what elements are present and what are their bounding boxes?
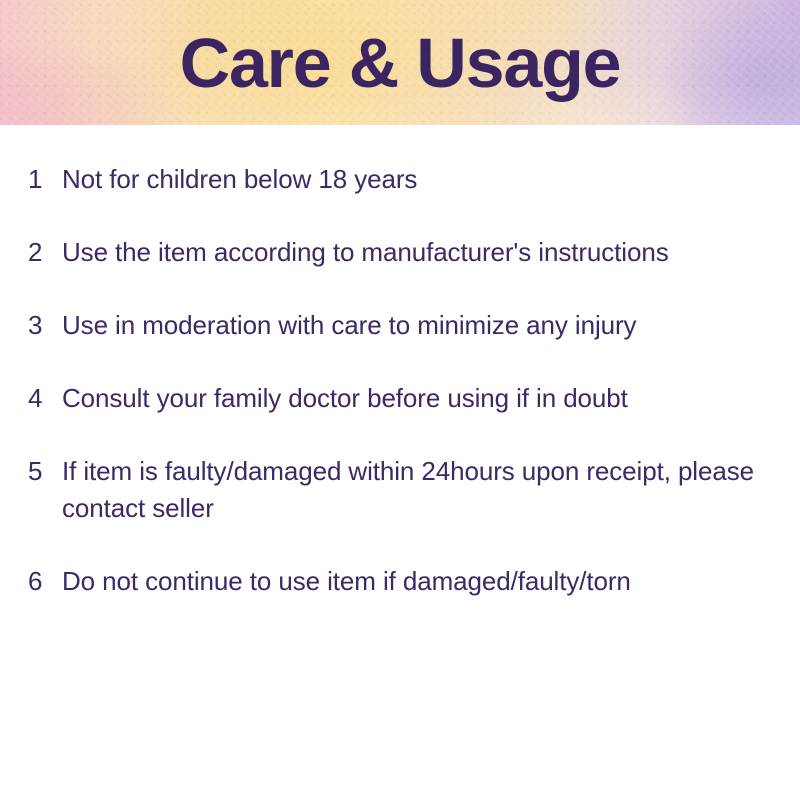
list-item-text: Not for children below 18 years [62, 161, 760, 198]
list-item: 5 If item is faulty/damaged within 24hou… [0, 453, 800, 527]
list-item: 2 Use the item according to manufacturer… [0, 234, 800, 271]
list-item-number: 2 [28, 234, 62, 271]
page-title: Care & Usage [0, 0, 800, 125]
list-item-text: Use the item according to manufacturer's… [62, 234, 760, 271]
list-item-number: 6 [28, 563, 62, 600]
list-item: 1 Not for children below 18 years [0, 161, 800, 198]
list-item-number: 5 [28, 453, 62, 490]
list-item-text: Use in moderation with care to minimize … [62, 307, 760, 344]
list-item-text: Do not continue to use item if damaged/f… [62, 563, 760, 600]
list-item-number: 1 [28, 161, 62, 198]
list-item-number: 3 [28, 307, 62, 344]
list-item: 3 Use in moderation with care to minimiz… [0, 307, 800, 344]
list-item: 4 Consult your family doctor before usin… [0, 380, 800, 417]
list-item-text: If item is faulty/damaged within 24hours… [62, 453, 760, 527]
header-banner: Care & Usage [0, 0, 800, 125]
care-usage-list: 1 Not for children below 18 years 2 Use … [0, 125, 800, 600]
list-item-text: Consult your family doctor before using … [62, 380, 760, 417]
list-item-number: 4 [28, 380, 62, 417]
list-item: 6 Do not continue to use item if damaged… [0, 563, 800, 600]
